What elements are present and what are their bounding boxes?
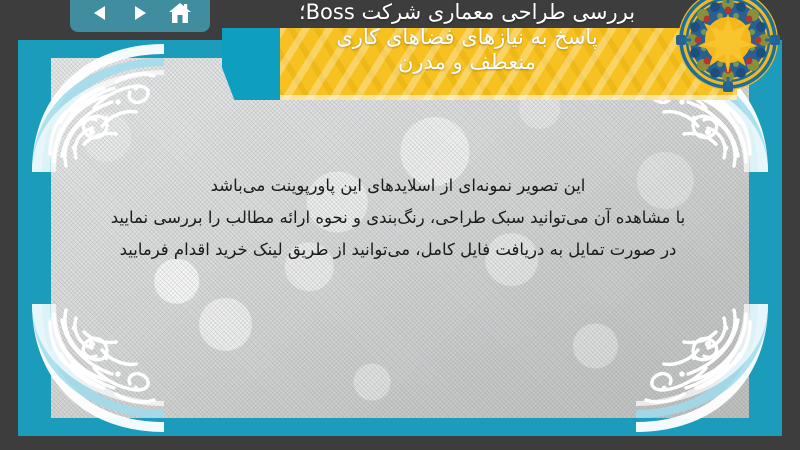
slide-nav-bar[interactable]	[70, 0, 210, 32]
arabesque-corner-icon	[32, 44, 164, 172]
arabesque-corner-icon	[32, 304, 164, 432]
home-button[interactable]	[165, 1, 195, 25]
forward-button[interactable]	[125, 1, 155, 25]
slide-body-text: این تصویر نمونه‌ای از اسلایدهای این پاور…	[108, 170, 688, 266]
arabesque-corner-icon	[636, 304, 768, 432]
title-banner	[222, 28, 737, 100]
home-icon	[168, 2, 192, 24]
body-line: در صورت تمایل به دریافت فایل کامل، می‌تو…	[108, 234, 688, 266]
body-line: این تصویر نمونه‌ای از اسلایدهای این پاور…	[108, 170, 688, 202]
banner-body	[280, 28, 737, 100]
persian-medallion-icon	[672, 0, 784, 96]
body-line: با مشاهده آن می‌توانید سبک طراحی، رنگ‌بن…	[108, 202, 688, 234]
back-triangle-icon	[90, 3, 110, 23]
back-button[interactable]	[85, 1, 115, 25]
forward-triangle-icon	[130, 3, 150, 23]
presentation-viewer: این تصویر نمونه‌ای از اسلایدهای این پاور…	[0, 0, 800, 450]
banner-tab-accent	[222, 28, 284, 100]
